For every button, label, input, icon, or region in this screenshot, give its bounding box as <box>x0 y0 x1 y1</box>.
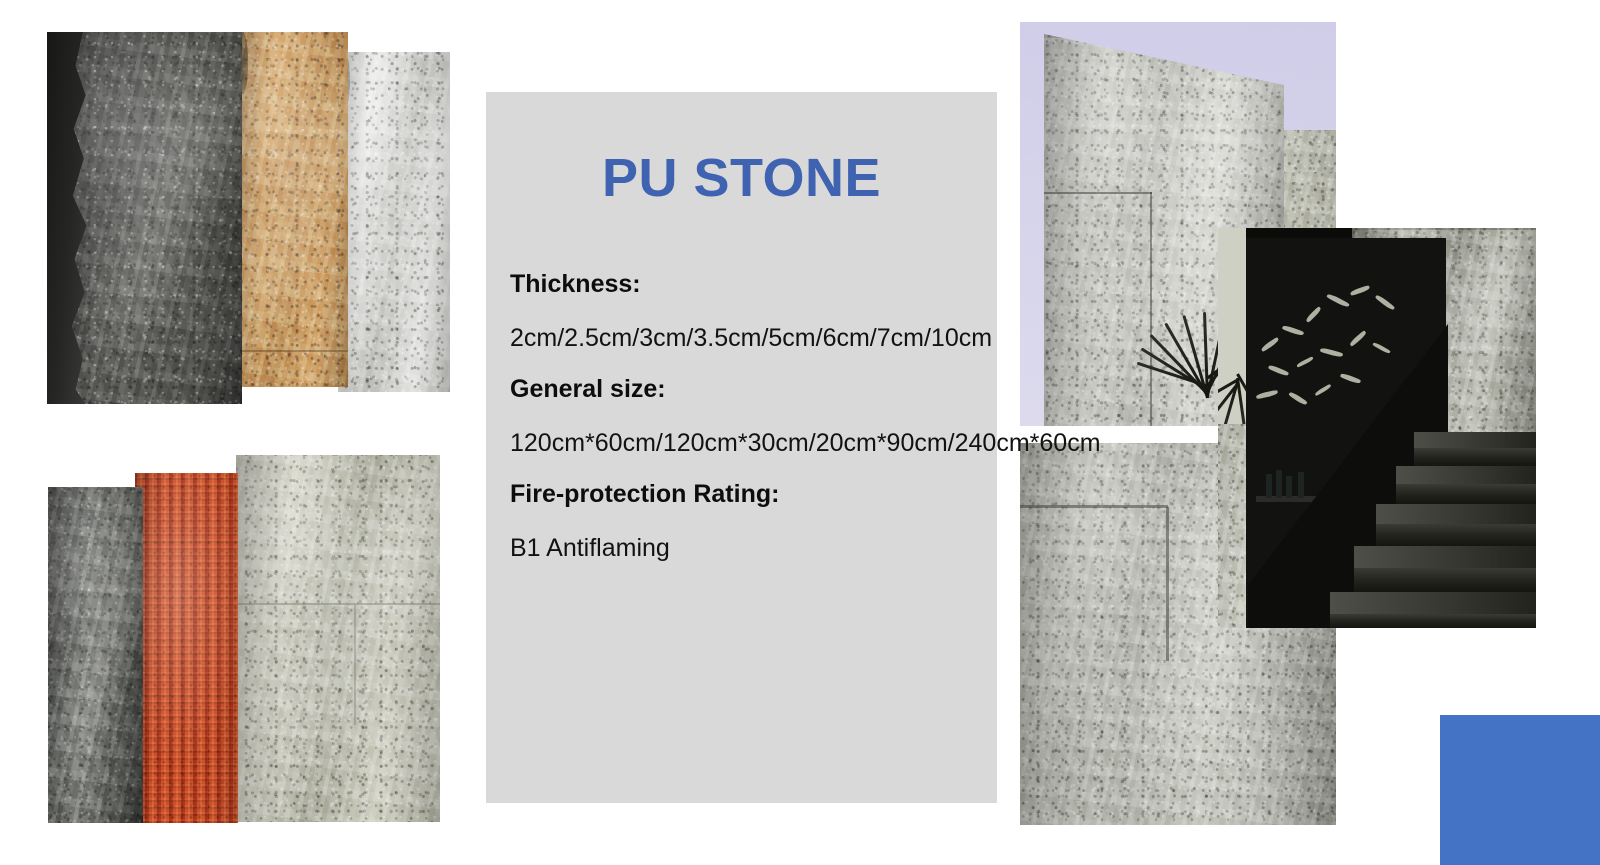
bottle <box>1276 470 1282 498</box>
charcoal-stone-panel <box>47 32 242 404</box>
stone-texture <box>1218 424 1248 628</box>
stair-tread <box>1330 592 1536 614</box>
stone-seam <box>238 350 348 352</box>
stone-seam <box>1044 192 1152 194</box>
stone-shading <box>238 32 348 387</box>
white-stone-panel <box>338 52 450 392</box>
stair-riser <box>1354 568 1536 592</box>
stone-seam <box>354 605 356 725</box>
outside-sliver <box>1218 228 1246 424</box>
leaf <box>1305 306 1322 323</box>
leaf <box>1296 356 1314 367</box>
bottle <box>1286 476 1292 498</box>
leaf <box>1288 391 1307 406</box>
spec-value-thickness: 2cm/2.5cm/3cm/3.5cm/5cm/6cm/7cm/10cm <box>510 321 956 355</box>
blue-accent-square <box>1440 715 1600 865</box>
leaf <box>1350 285 1371 296</box>
stair-riser <box>1414 448 1536 466</box>
leaf <box>1340 372 1361 385</box>
leaf <box>1268 364 1289 377</box>
spec-value-general-size: 120cm*60cm/120cm*30cm/20cm*90cm/240cm*60… <box>510 426 956 460</box>
leaf <box>1256 390 1279 399</box>
stair-tread <box>1376 504 1536 524</box>
spec-label-thickness: Thickness: <box>510 272 956 297</box>
stone-shading <box>48 487 143 823</box>
stone-seam <box>1150 192 1152 426</box>
interior-stairs-photo <box>1218 228 1536 628</box>
leaf <box>1349 330 1368 347</box>
stair-tread <box>1396 466 1536 484</box>
stone-seam <box>236 603 440 605</box>
leaf <box>1260 337 1279 352</box>
stair-riser <box>1330 614 1536 628</box>
stair-riser <box>1396 484 1536 504</box>
leaf <box>1320 347 1343 358</box>
gray-stone-panel <box>48 487 143 823</box>
spec-value-fire-rating: B1 Antiflaming <box>510 531 956 565</box>
spec-list: Thickness: 2cm/2.5cm/3cm/3.5cm/5cm/6cm/7… <box>510 272 956 565</box>
stone-shading <box>236 455 440 822</box>
beige-stone-panel <box>236 455 440 822</box>
edge-stone-sliver <box>1218 424 1248 628</box>
leaf <box>1326 293 1350 309</box>
tan-sandstone-panel <box>238 32 348 387</box>
spec-item-fire-rating: Fire-protection Rating: B1 Antiflaming <box>510 482 956 565</box>
bottle <box>1298 472 1304 498</box>
stone-course-seam <box>1166 507 1169 661</box>
spec-item-general-size: General size: 120cm*60cm/120cm*30cm/20cm… <box>510 377 956 460</box>
spec-item-thickness: Thickness: 2cm/2.5cm/3cm/3.5cm/5cm/6cm/7… <box>510 272 956 355</box>
stair-tread <box>1354 546 1536 568</box>
stair-tread <box>1414 432 1536 448</box>
leaf <box>1375 294 1395 311</box>
scene-backdrop <box>1218 228 1536 628</box>
spec-label-fire-rating: Fire-protection Rating: <box>510 482 956 507</box>
stone-shading <box>338 52 450 392</box>
stair-riser <box>1376 524 1536 546</box>
slide-canvas: PU STONE Thickness: 2cm/2.5cm/3cm/3.5cm/… <box>0 0 1600 865</box>
stone-course-seam <box>1020 505 1168 508</box>
page-title: PU STONE <box>486 147 997 209</box>
terracotta-ribbed-panel <box>135 473 238 823</box>
leaf <box>1372 342 1390 355</box>
leaf <box>1282 324 1304 336</box>
bottle <box>1266 474 1272 498</box>
spec-card: PU STONE Thickness: 2cm/2.5cm/3cm/3.5cm/… <box>486 92 997 803</box>
leaf <box>1314 384 1332 396</box>
spec-label-general-size: General size: <box>510 377 956 402</box>
stone-shading <box>135 473 238 823</box>
